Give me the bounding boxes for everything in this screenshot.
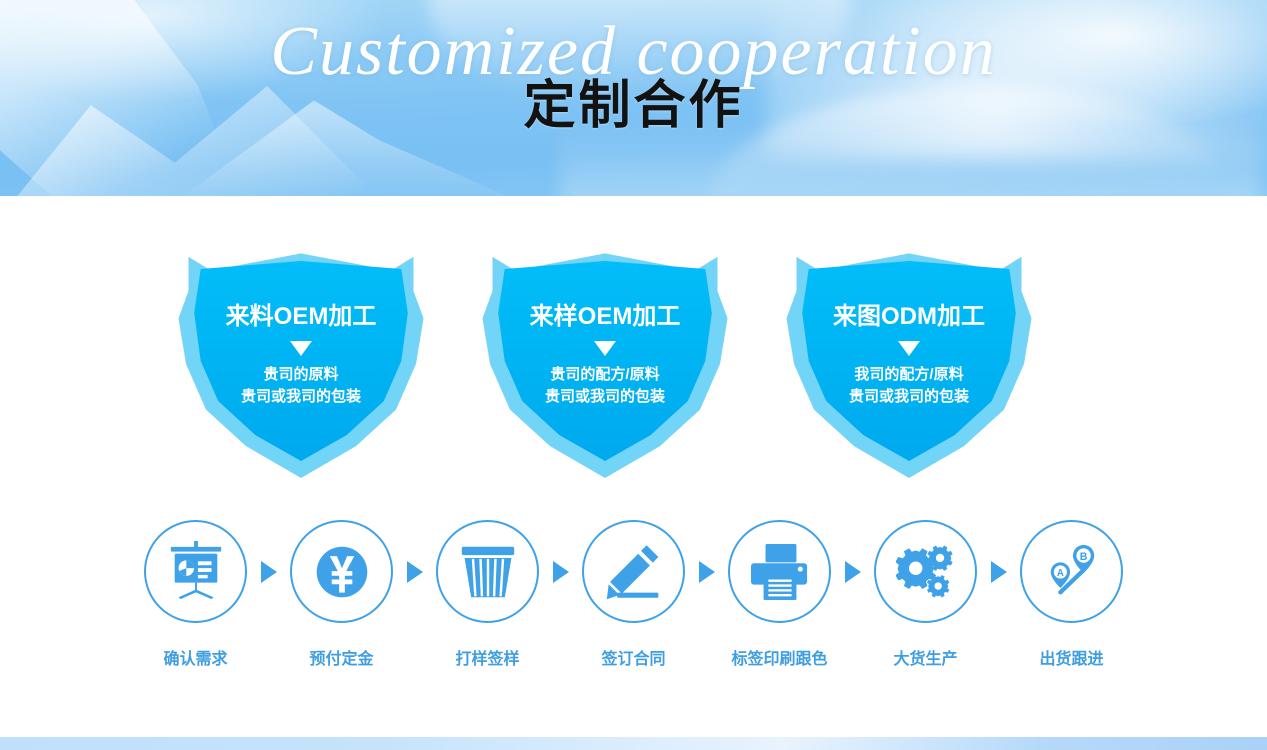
shield-subtitle-line: 贵司或我司的包装	[849, 386, 969, 408]
shield-subtitle: 贵司的配方/原料 贵司或我司的包装	[545, 364, 665, 408]
process-steps: 确认需求 预付定金	[0, 520, 1267, 690]
shield-subtitle-line: 我司的配方/原料	[849, 364, 969, 386]
step-label: 确认需求	[163, 645, 227, 669]
arrow-right-icon	[261, 561, 277, 583]
yuan-coin-icon	[312, 542, 372, 602]
bottom-gradient-strip	[0, 737, 1267, 750]
shield-card-oem-sample[interactable]: 来样OEM加工 贵司的配方/原料 贵司或我司的包装	[480, 250, 730, 478]
step-icon-circle	[874, 520, 977, 623]
step-item-shipment-tracking[interactable]: B A 出货跟进	[1014, 520, 1130, 669]
printer-icon	[749, 543, 811, 601]
shield-subtitle: 贵司的原料 贵司或我司的包装	[241, 364, 361, 408]
step-item-prepay-deposit[interactable]: 预付定金	[284, 520, 400, 669]
map-route-ab-icon: B A	[1041, 543, 1103, 601]
page-title: 定制合作	[0, 63, 1267, 138]
step-icon-circle	[436, 520, 539, 623]
hero-banner: Customized cooperation 定制合作	[0, 0, 1267, 196]
presentation-chart-icon	[165, 541, 227, 603]
arrow-right-icon	[991, 561, 1007, 583]
step-item-sign-contract[interactable]: 签订合同	[576, 520, 692, 669]
shield-title: 来图ODM加工	[833, 305, 985, 329]
shield-title: 来样OEM加工	[530, 305, 681, 329]
step-item-sample-making[interactable]: 打样签样	[430, 520, 546, 669]
step-label: 打样签样	[455, 645, 519, 669]
shield-subtitle-line: 贵司或我司的包装	[241, 386, 361, 408]
pencil-sign-icon	[604, 542, 664, 602]
shield-title: 来料OEM加工	[226, 305, 377, 329]
triangle-down-icon	[898, 341, 920, 356]
shield-content: 来样OEM加工 贵司的配方/原料 贵司或我司的包装	[480, 250, 730, 478]
arrow-right-icon	[553, 561, 569, 583]
step-icon-circle: B A	[1020, 520, 1123, 623]
step-item-mass-production[interactable]: 大货生产	[868, 520, 984, 669]
shield-group: 来料OEM加工 贵司的原料 贵司或我司的包装 来样OEM加工 贵司的配方/原料 …	[0, 250, 1267, 480]
svg-text:A: A	[1056, 567, 1063, 578]
step-item-label-printing[interactable]: 标签印刷跟色	[722, 520, 838, 669]
step-icon-circle	[728, 520, 831, 623]
triangle-down-icon	[290, 341, 312, 356]
shield-content: 来料OEM加工 贵司的原料 贵司或我司的包装	[176, 250, 426, 478]
svg-text:B: B	[1079, 550, 1087, 562]
sample-basket-icon	[458, 543, 518, 601]
shield-card-oem-material[interactable]: 来料OEM加工 贵司的原料 贵司或我司的包装	[176, 250, 426, 478]
shield-subtitle: 我司的配方/原料 贵司或我司的包装	[849, 364, 969, 408]
arrow-right-icon	[845, 561, 861, 583]
step-icon-circle	[582, 520, 685, 623]
triangle-down-icon	[594, 341, 616, 356]
step-label: 预付定金	[309, 645, 373, 669]
step-icon-circle	[144, 520, 247, 623]
step-label: 大货生产	[893, 645, 957, 669]
shield-card-odm-design[interactable]: 来图ODM加工 我司的配方/原料 贵司或我司的包装	[784, 250, 1034, 478]
shield-subtitle-line: 贵司的配方/原料	[545, 364, 665, 386]
step-icon-circle	[290, 520, 393, 623]
gears-icon	[896, 543, 956, 601]
shield-subtitle-line: 贵司的原料	[241, 364, 361, 386]
arrow-right-icon	[699, 561, 715, 583]
shield-subtitle-line: 贵司或我司的包装	[545, 386, 665, 408]
arrow-right-icon	[407, 561, 423, 583]
step-label: 标签印刷跟色	[731, 645, 827, 669]
shield-content: 来图ODM加工 我司的配方/原料 贵司或我司的包装	[784, 250, 1034, 478]
step-label: 签订合同	[601, 645, 665, 669]
step-label: 出货跟进	[1039, 645, 1103, 669]
step-item-confirm-requirements[interactable]: 确认需求	[138, 520, 254, 669]
